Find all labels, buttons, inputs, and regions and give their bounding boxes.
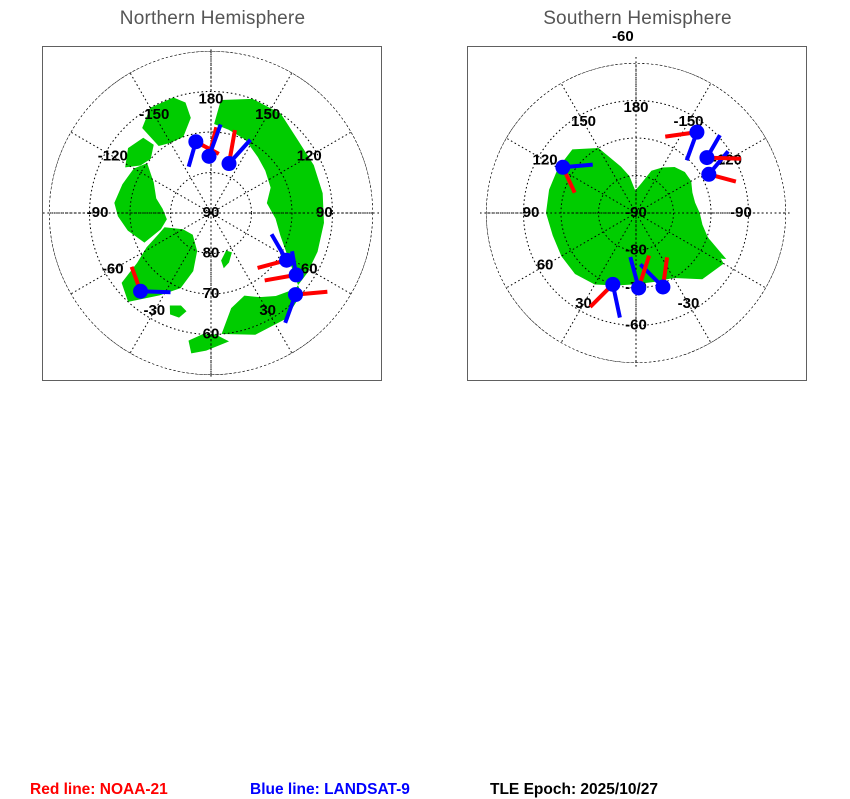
axis-label-lat-70: 70	[203, 285, 220, 302]
axis-label-lon--90: -90	[87, 204, 109, 221]
legend: Red line: NOAA-21 Blue line: LANDSAT-9 T…	[0, 383, 850, 425]
axis-label-lat-90: 90	[203, 204, 220, 221]
page-title-south: Southern Hemisphere	[425, 8, 850, 30]
satellite-position-dot[interactable]	[689, 125, 704, 140]
satellite-position-dot[interactable]	[699, 150, 714, 165]
polar-projection-north-svg: 90807060306090120150180-150-120-90-60-30	[43, 47, 380, 379]
satellite-position-dot[interactable]	[202, 149, 217, 164]
axis-label-outer-top-south: -60	[612, 28, 634, 45]
axis-label-lon-180: 180	[198, 91, 223, 108]
satellite-position-dot[interactable]	[555, 160, 570, 175]
axis-label-lon-120: 120	[297, 147, 322, 164]
satellite-position-dot[interactable]	[701, 167, 716, 182]
axis-label-lat--60: -60	[625, 316, 647, 333]
axis-label-lon-90: 90	[316, 204, 333, 221]
satellite-position-dot[interactable]	[188, 134, 203, 149]
axis-label-lat--90: -90	[625, 204, 647, 221]
satellite-position-dot[interactable]	[605, 277, 620, 292]
southern-hemisphere-panel: Southern Hemisphere -60 -90-80-70-603060…	[425, 0, 850, 425]
satellite-position-dot[interactable]	[222, 156, 237, 171]
axis-label-lon-150: 150	[571, 113, 596, 130]
page-title-north: Northern Hemisphere	[0, 8, 425, 30]
northern-hemisphere-panel: Northern Hemisphere 90807060306090120150…	[0, 0, 425, 425]
axis-label-lon-120: 120	[533, 151, 558, 168]
polar-projection-south-svg: -90-80-70-60306090120150180-150-120-90-3…	[468, 47, 805, 379]
axis-label-lon--90: -90	[730, 204, 752, 221]
axis-label-lon--150: -150	[139, 106, 169, 123]
axis-label-lon-60: 60	[537, 256, 554, 273]
axis-label-lon--30: -30	[678, 295, 700, 312]
satellite-position-dot[interactable]	[655, 280, 670, 295]
satellite-position-dot[interactable]	[289, 267, 304, 282]
satellite-position-dot[interactable]	[288, 287, 303, 302]
axis-label-lon-30: 30	[575, 295, 592, 312]
axis-label-lon--120: -120	[98, 147, 128, 164]
satellite-position-dot[interactable]	[133, 284, 148, 299]
legend-item-tle-epoch: TLE Epoch: 2025/10/27	[490, 781, 658, 799]
axis-label-lon--30: -30	[143, 302, 165, 319]
axis-label-lat--80: -80	[625, 241, 647, 258]
axis-label-lon-90: 90	[523, 204, 540, 221]
polar-plot-north: 90807060306090120150180-150-120-90-60-30	[42, 46, 382, 381]
axis-label-lat-80: 80	[203, 244, 220, 261]
legend-item-noaa21: Red line: NOAA-21	[30, 781, 168, 799]
axis-label-lon-180: 180	[623, 99, 648, 116]
axis-label-lon--60: -60	[102, 261, 124, 278]
axis-label-lat-60: 60	[203, 325, 220, 342]
polar-plot-south: -90-80-70-60306090120150180-150-120-90-3…	[467, 46, 807, 381]
axis-label-lon-150: 150	[255, 106, 280, 123]
legend-item-landsat9: Blue line: LANDSAT-9	[250, 781, 410, 799]
satellite-marker[interactable]	[285, 287, 327, 323]
axis-label-lon-30: 30	[259, 302, 276, 319]
satellite-position-dot[interactable]	[631, 280, 646, 295]
